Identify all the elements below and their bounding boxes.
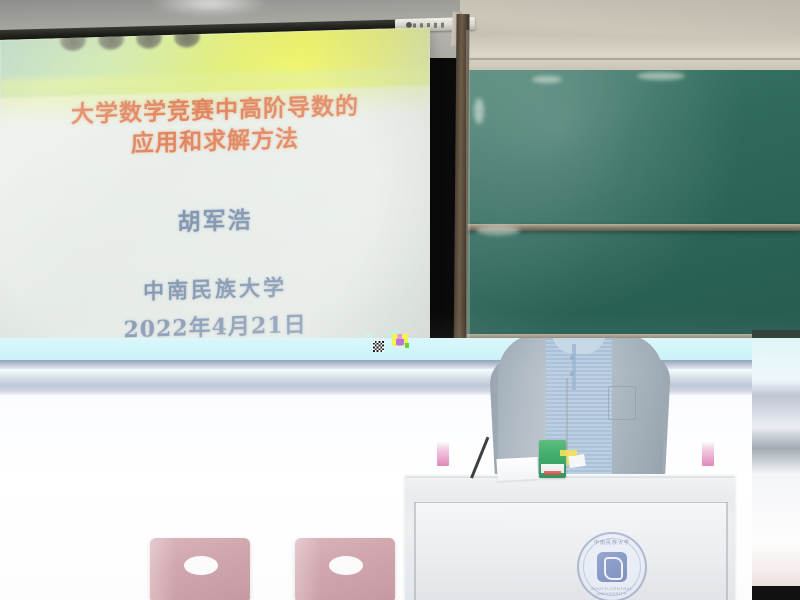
chalkboard-upper-wall <box>462 36 800 74</box>
chair-handle-cutout <box>184 556 218 575</box>
chair-highlight <box>150 538 176 600</box>
yellow-tag <box>560 450 577 456</box>
speaker-jacket-pocket <box>608 386 636 420</box>
chalk-holder <box>474 98 484 124</box>
checkerboard-glitch-icon <box>373 341 384 352</box>
podium-left-edge <box>414 502 416 600</box>
chair-handle-cutout <box>329 556 363 575</box>
seal-emblem-core <box>597 552 627 582</box>
chalk-stick <box>476 226 520 235</box>
shirt-button <box>570 372 574 376</box>
shirt-button <box>570 356 574 360</box>
screenshot-root: 大学数学竞赛中高阶导数的 应用和求解方法 胡军浩 中南民族大学 2022年4月2… <box>0 0 800 600</box>
green-glitch-pixel <box>405 343 409 348</box>
pink-bottle-right <box>702 442 714 466</box>
podium-front-panel <box>415 502 727 600</box>
chalk-smudge <box>637 72 685 80</box>
background-bottom-black-bar <box>752 586 800 600</box>
white-paper <box>496 457 538 481</box>
chair-back-right <box>295 538 395 600</box>
chalkboard-area <box>462 36 800 366</box>
university-seal-icon: 中南民族大学 SOUTH-CENTRAL UNIVERSITY <box>577 532 647 600</box>
chalk-smudge <box>532 76 562 83</box>
overlay-frame-panel: 中南民族大学 SOUTH-CENTRAL UNIVERSITY <box>0 338 752 600</box>
frame-seam-artifact <box>364 332 373 338</box>
speaker-badge-paper <box>568 454 586 468</box>
speaker-shirt-placket <box>572 344 576 390</box>
speaker-lanyard <box>566 378 568 456</box>
background-right-strip <box>752 338 800 600</box>
green-carton-red-stripe <box>544 471 561 475</box>
seal-top-text: 中南民族大学 <box>579 539 645 546</box>
magenta-glitch-pixel <box>396 339 404 345</box>
chalkboard-glare <box>462 70 800 366</box>
pink-bottle-left <box>437 442 449 466</box>
podium-right-edge <box>726 502 728 600</box>
chair-back-left <box>150 538 250 600</box>
chalkboard-frame-highlight <box>466 30 470 360</box>
seal-bottom-text: SOUTH-CENTRAL UNIVERSITY <box>579 586 645 596</box>
chair-highlight <box>295 538 321 600</box>
wall-seam-line <box>462 58 800 60</box>
background-right-top-strip <box>752 330 800 338</box>
